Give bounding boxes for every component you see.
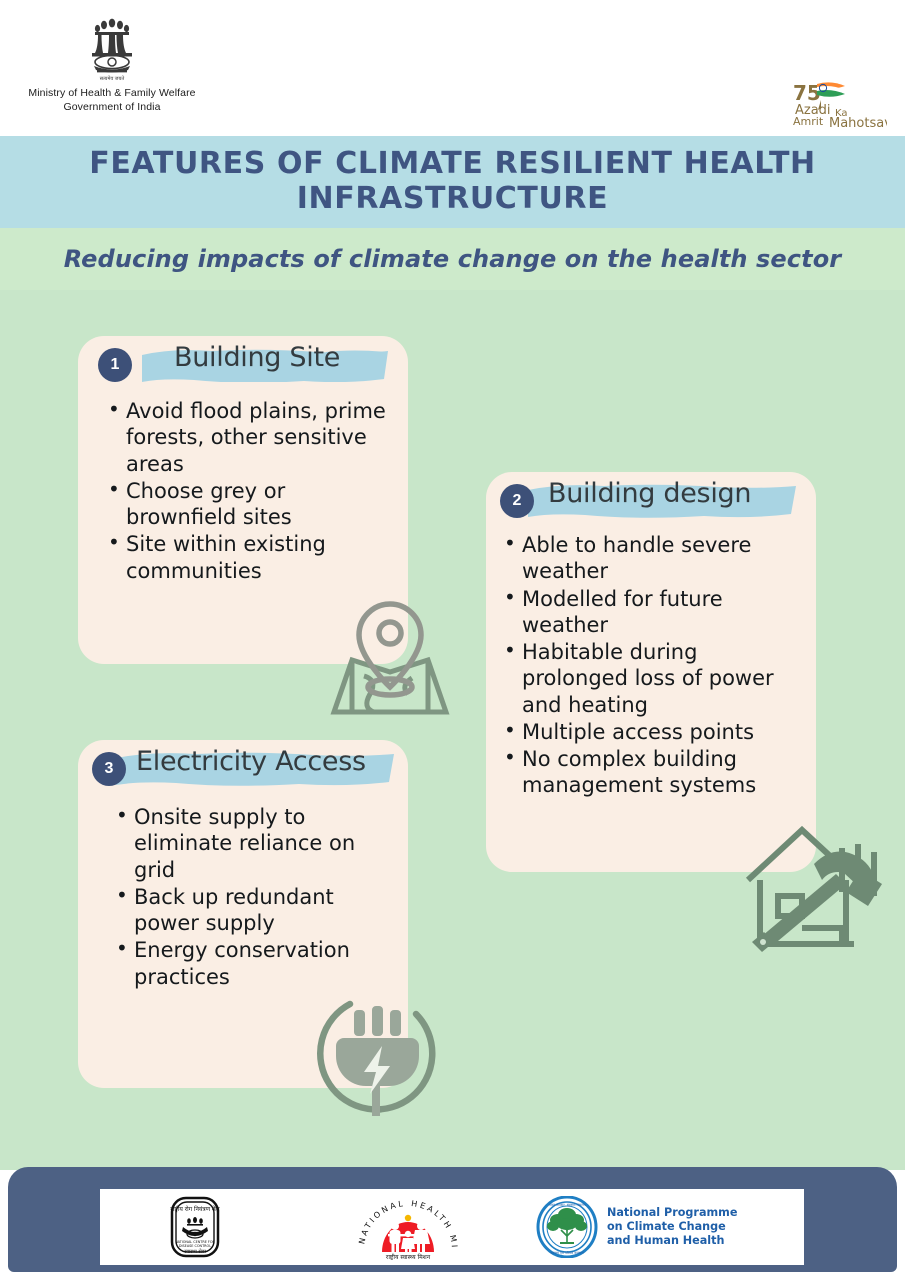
svg-text:DISEASE CONTROL: DISEASE CONTROL bbox=[179, 1244, 211, 1248]
svg-text:स्वास्थ्य सेवा: स्वास्थ्य सेवा bbox=[184, 1248, 206, 1255]
india-state-emblem-icon: सत्यमेव जयते bbox=[84, 14, 140, 86]
azadi-ka-amrit-mahotsav-logo-icon: 75 Azadi Ka Amrit Mahotsav bbox=[791, 78, 887, 128]
card-title: Electricity Access bbox=[136, 746, 366, 777]
list-item: Site within existing communities bbox=[126, 531, 392, 584]
svg-text:स्वास्थ्य एवं परिवार कल्याण: स्वास्थ्य एवं परिवार कल्याण bbox=[550, 1250, 584, 1255]
card-title: Building design bbox=[548, 478, 751, 509]
page-header: सत्यमेव जयते Ministry of Health & Family… bbox=[0, 0, 905, 136]
list-item: Energy conservation practices bbox=[134, 937, 392, 990]
svg-text:सत्यमेव जयते: सत्यमेव जयते bbox=[100, 75, 125, 82]
npcchh-logo-text: National Programme on Climate Change and… bbox=[607, 1206, 737, 1249]
svg-text:भारत सरकार, स्वास्थ्य मंत्रालय: भारत सरकार, स्वास्थ्य मंत्रालय bbox=[548, 1203, 586, 1207]
amrit-75-text: 75 bbox=[793, 81, 821, 105]
card-title: Building Site bbox=[174, 342, 340, 373]
subtitle-band: Reducing impacts of climate change on th… bbox=[0, 228, 905, 290]
list-item: Avoid flood plains, prime forests, other… bbox=[126, 398, 392, 477]
list-item: Modelled for future weather bbox=[522, 586, 804, 639]
card-header: 2 Building design bbox=[486, 472, 816, 528]
footer-logo-strip: राष्ट्रीय रोग नियंत्रण केंद्र NATIONAL C… bbox=[100, 1189, 804, 1265]
list-item: Able to handle severe weather bbox=[522, 532, 804, 585]
feature-card-electricity-access: 3 Electricity Access Onsite supply to el… bbox=[78, 740, 408, 1088]
npcchh-logo: भारत सरकार, स्वास्थ्य मंत्रालय स्वास्थ्य… bbox=[526, 1196, 804, 1258]
card-bullet-list: Able to handle severe weather Modelled f… bbox=[486, 528, 816, 799]
ncdc-logo: राष्ट्रीय रोग नियंत्रण केंद्र NATIONAL C… bbox=[100, 1196, 290, 1258]
list-item: No complex building management systems bbox=[522, 746, 804, 799]
svg-text:राष्ट्रीय स्वास्थ्य मिशन: राष्ट्रीय स्वास्थ्य मिशन bbox=[386, 1253, 431, 1260]
feature-card-building-design: 2 Building design Able to handle severe … bbox=[486, 472, 816, 872]
card-number-badge: 2 bbox=[500, 484, 534, 518]
content-area: 1 Building Site Avoid flood plains, prim… bbox=[0, 290, 905, 1170]
feature-card-building-site: 1 Building Site Avoid flood plains, prim… bbox=[78, 336, 408, 664]
amrit-mahotsav-text: Mahotsav bbox=[829, 116, 887, 128]
list-item: Onsite supply to eliminate reliance on g… bbox=[134, 804, 392, 883]
list-item: Back up redundant power supply bbox=[134, 884, 392, 937]
national-health-mission-logo: NATIONAL HEALTH MISSION राष्ट्रीय स्वास्… bbox=[290, 1194, 526, 1260]
list-item: Multiple access points bbox=[522, 719, 804, 745]
amrit-amrit-text: Amrit bbox=[793, 115, 824, 128]
list-item: Habitable during prolonged loss of power… bbox=[522, 639, 804, 718]
card-number-badge: 3 bbox=[92, 752, 126, 786]
ministry-name-line2: Government of India bbox=[63, 100, 160, 114]
ministry-name-line1: Ministry of Health & Family Welfare bbox=[28, 86, 195, 100]
card-header: 3 Electricity Access bbox=[78, 740, 408, 796]
list-item: Choose grey or brownfield sites bbox=[126, 478, 392, 531]
card-number-badge: 1 bbox=[98, 348, 132, 382]
page-subtitle: Reducing impacts of climate change on th… bbox=[64, 245, 841, 273]
page-title: FEATURES OF CLIMATE RESILIENT HEALTH INF… bbox=[0, 147, 905, 217]
nhm-logo-icon: NATIONAL HEALTH MISSION राष्ट्रीय स्वास्… bbox=[352, 1194, 464, 1260]
card-bullet-list: Onsite supply to eliminate reliance on g… bbox=[78, 796, 408, 990]
ministry-emblem-block: सत्यमेव जयते Ministry of Health & Family… bbox=[22, 14, 202, 114]
title-banner: FEATURES OF CLIMATE RESILIENT HEALTH INF… bbox=[0, 136, 905, 228]
svg-text:राष्ट्रीय रोग नियंत्रण केंद्र: राष्ट्रीय रोग नियंत्रण केंद्र bbox=[170, 1205, 220, 1213]
npcchh-seal-icon: भारत सरकार, स्वास्थ्य मंत्रालय स्वास्थ्य… bbox=[536, 1196, 598, 1258]
page-footer: राष्ट्रीय रोग नियंत्रण केंद्र NATIONAL C… bbox=[8, 1167, 897, 1272]
ncdc-logo-icon: राष्ट्रीय रोग नियंत्रण केंद्र NATIONAL C… bbox=[169, 1196, 221, 1258]
card-bullet-list: Avoid flood plains, prime forests, other… bbox=[78, 392, 408, 584]
card-header: 1 Building Site bbox=[78, 336, 408, 392]
infographic-page: सत्यमेव जयते Ministry of Health & Family… bbox=[0, 0, 905, 1280]
